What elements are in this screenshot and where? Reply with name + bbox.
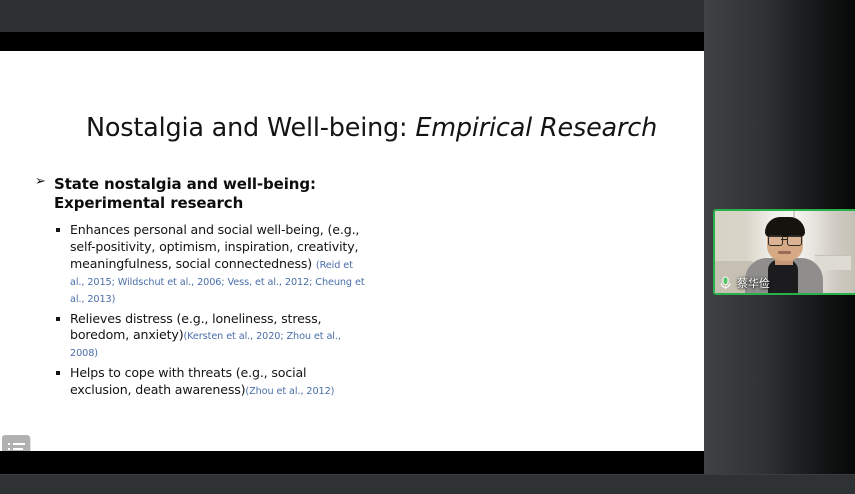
participant-tile[interactable]: 蔡华俭 <box>713 209 855 295</box>
slide-bullet-list: Enhances personal and social well-being,… <box>30 222 370 398</box>
list-view-button[interactable] <box>2 435 30 451</box>
arrow-bullet-icon: ➢ <box>35 174 46 191</box>
list-item: Relieves distress (e.g., loneliness, str… <box>70 311 370 362</box>
participant-filmstrip[interactable]: 蔡华俭 <box>704 0 855 494</box>
square-bullet-icon <box>56 228 60 232</box>
slide-section-heading: ➢ State nostalgia and well-being: Experi… <box>30 175 370 213</box>
bullet-citation: (Zhou et al., 2012) <box>245 386 334 397</box>
list-item: Helps to cope with threats (e.g., social… <box>70 365 370 399</box>
square-bullet-icon <box>56 371 60 375</box>
participant-tile-footer: 蔡华俭 <box>715 273 855 293</box>
participant-name: 蔡华俭 <box>737 275 770 291</box>
square-bullet-icon <box>56 317 60 321</box>
slide-title-italic: Empirical Research <box>415 113 657 143</box>
list-item: Enhances personal and social well-being,… <box>70 222 370 306</box>
meeting-window: Nostalgia and Well-being: Empirical Rese… <box>0 0 855 494</box>
screen-share-stage[interactable]: Nostalgia and Well-being: Empirical Rese… <box>0 32 704 474</box>
slide-title: Nostalgia and Well-being: Empirical Rese… <box>86 113 686 143</box>
section-heading-line-2: Experimental research <box>54 194 243 212</box>
presentation-slide: Nostalgia and Well-being: Empirical Rese… <box>0 51 704 451</box>
microphone-unmuted-icon <box>719 276 732 290</box>
section-heading-line-1: State nostalgia and well-being: <box>54 175 316 193</box>
slide-title-plain: Nostalgia and Well-being: <box>86 113 407 143</box>
list-view-icon <box>8 443 25 451</box>
window-chrome-bottom <box>0 474 855 494</box>
slide-body: ➢ State nostalgia and well-being: Experi… <box>30 175 370 403</box>
